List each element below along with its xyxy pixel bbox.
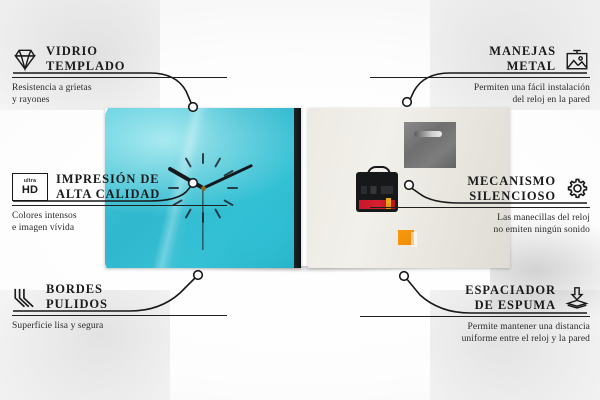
polished-edges-icon bbox=[12, 284, 38, 310]
callout-manejas-metal: MANEJAS METAL Permiten una fácil instala… bbox=[370, 44, 590, 106]
hanger-slot bbox=[414, 131, 442, 137]
callout-title: BORDES PULIDOS bbox=[46, 282, 108, 312]
callout-impresion-alta-calidad: ultra HD IMPRESIÓN DE ALTA CALIDAD Color… bbox=[12, 172, 227, 234]
callout-divider bbox=[370, 77, 590, 78]
callout-description: Permite mantener una distancia uniforme … bbox=[360, 321, 590, 345]
callout-title: MECANISMO SILENCIOSO bbox=[467, 174, 556, 204]
callout-description: Las manecillas del reloj no emiten ningú… bbox=[370, 212, 590, 236]
hanger-plate bbox=[404, 122, 456, 168]
callout-description: Superficie lisa y segura bbox=[12, 320, 227, 332]
ultra-hd-icon-top: ultra bbox=[24, 179, 36, 184]
gear-icon bbox=[564, 176, 590, 202]
callout-vidrio-templado: VIDRIO TEMPLADO Resistencia a grietas y … bbox=[12, 44, 227, 106]
callout-divider bbox=[12, 315, 227, 316]
ultra-hd-icon: ultra HD bbox=[12, 173, 48, 201]
callout-description: Permiten una fácil instalación del reloj… bbox=[370, 82, 590, 106]
callout-title: ESPACIADOR DE ESPUMA bbox=[465, 283, 556, 313]
callout-mecanismo-silencioso: MECANISMO SILENCIOSO Las manecillas del … bbox=[370, 174, 590, 236]
callout-description: Colores intensos e imagen vívida bbox=[12, 210, 227, 234]
callout-description: Resistencia a grietas y rayones bbox=[12, 82, 227, 106]
callout-divider bbox=[12, 77, 227, 78]
callout-divider bbox=[360, 316, 590, 317]
callout-espaciador-espuma: ESPACIADOR DE ESPUMA Permite mantener un… bbox=[360, 283, 590, 345]
infographic-canvas: VIDRIO TEMPLADO Resistencia a grietas y … bbox=[0, 0, 600, 400]
foam-spacer-icon bbox=[564, 285, 590, 311]
clock-glass-edge bbox=[294, 108, 301, 268]
callout-divider bbox=[370, 207, 590, 208]
wall-hanger-icon bbox=[564, 46, 590, 72]
diamond-icon bbox=[12, 46, 38, 72]
callout-divider bbox=[12, 205, 227, 206]
ultra-hd-icon-main: HD bbox=[22, 185, 38, 196]
callout-title: IMPRESIÓN DE ALTA CALIDAD bbox=[56, 172, 160, 202]
callout-bordes-pulidos: BORDES PULIDOS Superficie lisa y segura bbox=[12, 282, 227, 332]
callout-title: VIDRIO TEMPLADO bbox=[46, 44, 125, 74]
product-shadow bbox=[112, 266, 507, 282]
callout-title: MANEJAS METAL bbox=[489, 44, 556, 74]
